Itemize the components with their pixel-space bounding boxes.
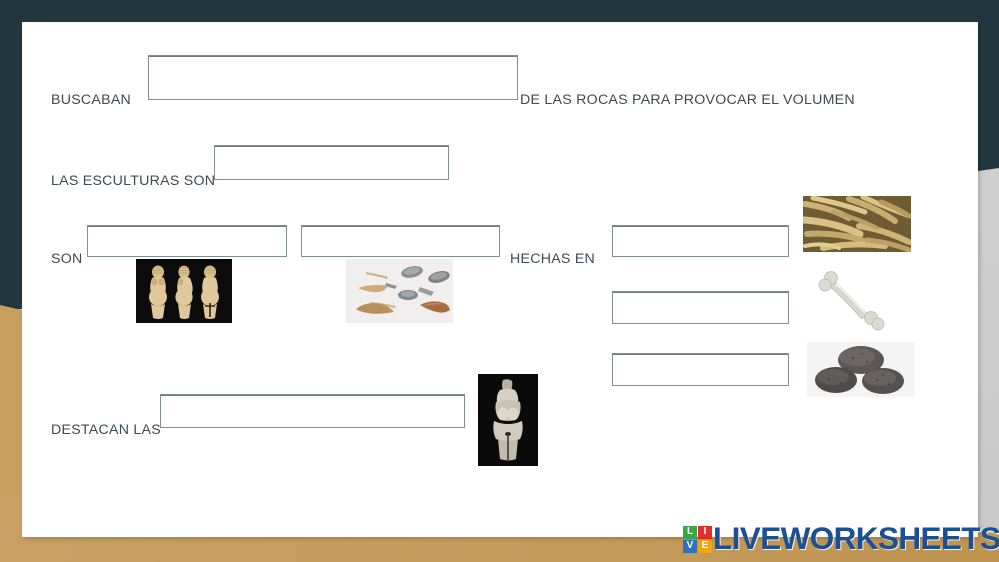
label-son: SON [51, 252, 83, 266]
input-material-1[interactable] [612, 225, 789, 257]
logo-tile-i: I [698, 526, 712, 539]
logo-tile-e: E [698, 540, 712, 553]
input-son-1[interactable] [87, 225, 287, 257]
input-material-2[interactable] [612, 291, 789, 324]
label-de-las-rocas-para-provocar-el-volumen: DE LAS ROCAS PARA PROVOCAR EL VOLUMEN [520, 93, 855, 107]
input-material-3[interactable] [612, 353, 789, 386]
worksheet-sheet: BUSCABAN DE LAS ROCAS PARA PROVOCAR EL V… [22, 22, 978, 537]
label-hechas-en: HECHAS EN [510, 252, 595, 266]
liveworksheets-logo-tiles: L I V E [683, 526, 712, 553]
label-destacan-las: DESTACAN LAS [51, 423, 161, 437]
label-las-esculturas-son: LAS ESCULTURAS SON [51, 174, 215, 188]
logo-tile-l: L [683, 526, 697, 539]
image-venus-figurines-three-views [136, 259, 232, 323]
liveworksheets-wordmark: LIVEWORKSHEETS [713, 523, 999, 555]
input-son-2[interactable] [301, 225, 500, 257]
input-destacan-las[interactable] [160, 394, 465, 428]
image-animal-bone [803, 266, 911, 334]
liveworksheets-logo: L I V E LIVEWORKSHEETS [683, 519, 999, 559]
label-buscaban: BUSCABAN [51, 93, 131, 107]
logo-tile-v: V [683, 540, 697, 553]
slide-root: BUSCABAN DE LAS ROCAS PARA PROVOCAR EL V… [0, 0, 999, 562]
image-prehistoric-stone-and-bone-tools [346, 259, 453, 323]
image-venus-figurine-single [478, 374, 538, 466]
image-dark-stones [807, 342, 915, 397]
input-buscaban[interactable] [148, 55, 518, 100]
input-las-esculturas-son[interactable] [214, 145, 449, 180]
image-ivory-tusks [803, 196, 911, 252]
